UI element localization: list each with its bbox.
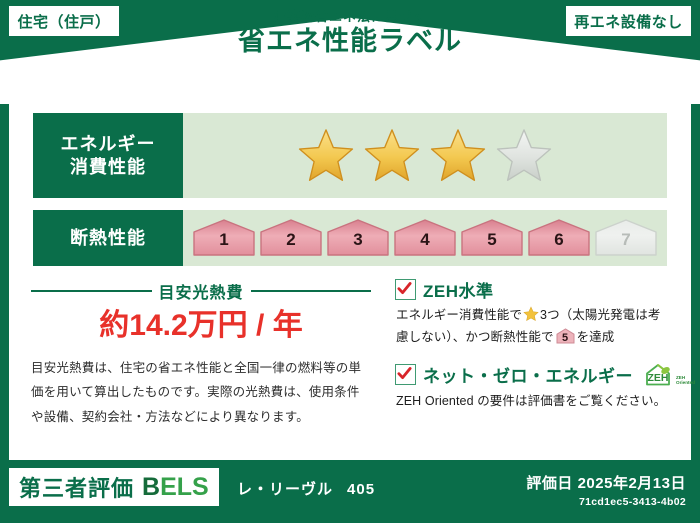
zeh-criteria-section: ZEH水準 エネルギー消費性能で3つ（太陽光発電は考慮しない）、かつ断熱性能で5… — [395, 277, 673, 426]
bels-letters-els: ELS — [160, 473, 209, 501]
insulation-step-value: 5 — [460, 230, 524, 250]
star-rating — [297, 128, 553, 184]
insulation-step-1: 1 — [192, 218, 256, 258]
checkbox-checked-icon — [395, 279, 416, 300]
insulation-step-value: 2 — [259, 230, 323, 250]
insulation-step-6: 6 — [527, 218, 591, 258]
inline-level-badge: 5 — [556, 328, 575, 344]
inline-star-icon — [523, 306, 539, 322]
heading-rule-left — [31, 290, 152, 292]
svg-text:ZEH: ZEH — [648, 372, 669, 384]
footer-bar: 第三者評価 BELS レ・リーヴル405 評価日 2025年2月13日 71cd… — [0, 460, 700, 523]
label-card: エネルギー 消費性能 断熱性能 1234567 目安光熱費 約14.2万円 / — [9, 99, 691, 460]
heading-rule-right — [251, 290, 372, 292]
star-filled-icon — [297, 128, 355, 184]
insulation-performance-row: 断熱性能 1234567 — [33, 210, 667, 266]
insulation-step-value: 6 — [527, 230, 591, 250]
net-zero-energy-description: ZEH Oriented の要件は評価書をご覧ください。 — [396, 391, 673, 413]
zeh-oriented-logo-icon: ZEH ZEH Oriented — [643, 362, 700, 388]
utility-cost-heading-text: 目安光熱費 — [159, 279, 244, 303]
star-empty-icon — [495, 128, 553, 184]
zeh-desc-part3: を達成 — [577, 330, 615, 344]
property-name: レ・リーヴル — [237, 481, 333, 498]
insulation-step-value: 7 — [594, 230, 658, 250]
evaluation-meta: 評価日 2025年2月13日 71cd1ec5-3413-4b02 — [526, 472, 686, 508]
zeh-standard-description: エネルギー消費性能で3つ（太陽光発電は考慮しない）、かつ断熱性能で5を達成 — [396, 305, 673, 349]
insulation-step-value: 3 — [326, 230, 390, 250]
energy-performance-label: 住宅（住戸） 再エネ設備なし 建築物省エネ法に基づく 省エネ性能ラベル エネルギ… — [0, 0, 700, 523]
insulation-step-7: 7 — [594, 218, 658, 258]
insulation-step-value: 4 — [393, 230, 457, 250]
third-party-evaluation-label: 第三者評価 — [19, 471, 134, 503]
star-filled-icon — [363, 128, 421, 184]
insulation-step-value: 1 — [192, 230, 256, 250]
zeh-standard-check-row: ZEH水準 — [395, 277, 673, 302]
property-number: 405 — [347, 481, 375, 498]
energy-performance-label: エネルギー 消費性能 — [33, 113, 183, 198]
title-main: 省エネ性能ラベル — [0, 27, 700, 57]
utility-cost-section: 目安光熱費 約14.2万円 / 年 目安光熱費は、住宅の省エネ性能と全国一律の燃… — [31, 279, 371, 429]
svg-text:Oriented: Oriented — [676, 380, 695, 385]
energy-performance-row: エネルギー 消費性能 — [33, 113, 667, 198]
insulation-label-text: 断熱性能 — [70, 227, 146, 250]
insulation-step-4: 4 — [393, 218, 457, 258]
insulation-steps-container: 1234567 — [183, 210, 667, 266]
star-filled-icon — [429, 128, 487, 184]
zeh-desc-part1: エネルギー消費性能で — [396, 308, 522, 322]
utility-cost-note: 目安光熱費は、住宅の省エネ性能と全国一律の燃料等の単価を用いて算出したものです。… — [31, 356, 371, 429]
inline-level-badge-value: 5 — [556, 329, 575, 348]
evaluation-id: 71cd1ec5-3413-4b02 — [526, 496, 686, 508]
bels-certification-plate: 第三者評価 BELS — [9, 468, 219, 506]
energy-stars-container — [183, 113, 667, 198]
insulation-step-scale: 1234567 — [192, 218, 658, 258]
energy-label-line2: 消費性能 — [70, 156, 146, 179]
energy-label-line1: エネルギー — [61, 133, 156, 156]
zeh-standard-title: ZEH水準 — [423, 277, 494, 302]
insulation-step-5: 5 — [460, 218, 524, 258]
title-block: 建築物省エネ法に基づく 省エネ性能ラベル — [0, 10, 700, 57]
insulation-performance-label: 断熱性能 — [33, 210, 183, 266]
net-zero-energy-title: ネット・ゼロ・エネルギー — [423, 362, 633, 387]
utility-cost-value: 約14.2万円 / 年 — [31, 309, 371, 342]
title-subtitle: 建築物省エネ法に基づく — [0, 10, 700, 24]
net-zero-energy-check-row: ネット・ゼロ・エネルギー ZEH ZEH Oriented — [395, 362, 673, 388]
insulation-step-3: 3 — [326, 218, 390, 258]
insulation-step-2: 2 — [259, 218, 323, 258]
bels-wordmark: BELS — [142, 473, 209, 502]
property-info: レ・リーヴル405 — [237, 478, 375, 499]
utility-cost-heading: 目安光熱費 — [31, 279, 371, 303]
checkbox-checked-icon-2 — [395, 364, 416, 385]
bels-letter-b: B — [142, 473, 160, 501]
evaluation-date: 評価日 2025年2月13日 — [526, 472, 686, 493]
